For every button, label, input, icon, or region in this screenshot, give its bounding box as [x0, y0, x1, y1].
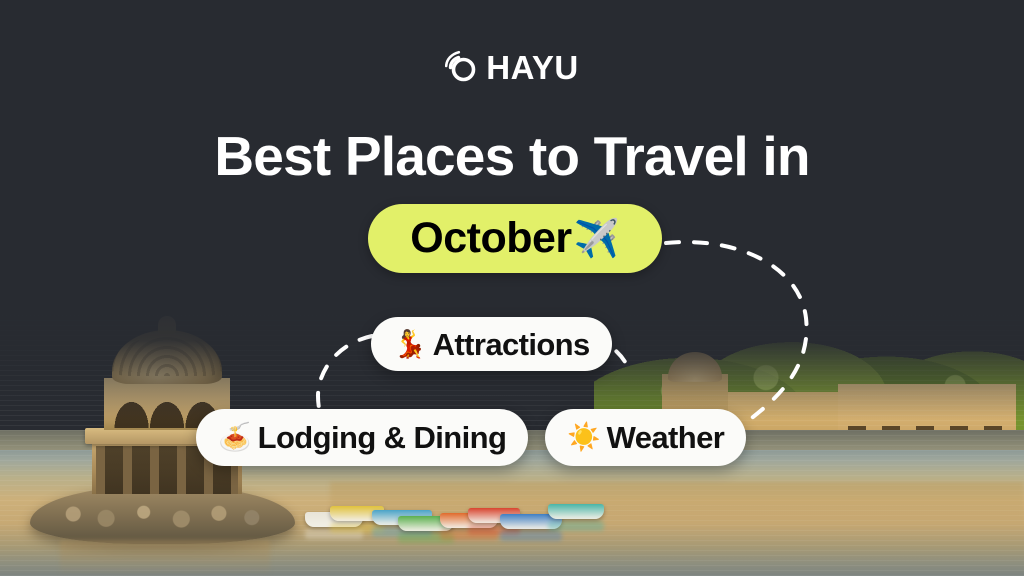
airplane-icon: ✈️ [574, 220, 620, 257]
brand-logo[interactable]: HAYU [0, 50, 1024, 84]
brand-name: HAYU [486, 51, 578, 84]
category-chip-attractions[interactable]: 💃 Attractions [371, 317, 612, 371]
category-chip-lodging-dining[interactable]: 🍝 Lodging & Dining [196, 409, 528, 466]
sun-icon: ☀️ [567, 424, 601, 451]
category-chip-label: Weather [607, 422, 725, 453]
category-chip-label: Lodging & Dining [258, 422, 507, 453]
hayu-swoosh-circle-icon [445, 50, 479, 84]
month-badge[interactable]: October ✈️ [368, 204, 662, 273]
category-chip-label: Attractions [433, 329, 590, 360]
connector-october-to-weather [666, 242, 807, 424]
page-title: Best Places to Travel in [0, 128, 1024, 186]
category-chip-weather[interactable]: ☀️ Weather [545, 409, 746, 466]
connector-lines [0, 0, 1024, 576]
month-label: October [410, 217, 571, 260]
poster-canvas: HAYU Best Places to Travel in October ✈️… [0, 0, 1024, 576]
spaghetti-icon: 🍝 [218, 424, 252, 451]
dancer-icon: 💃 [393, 331, 427, 358]
